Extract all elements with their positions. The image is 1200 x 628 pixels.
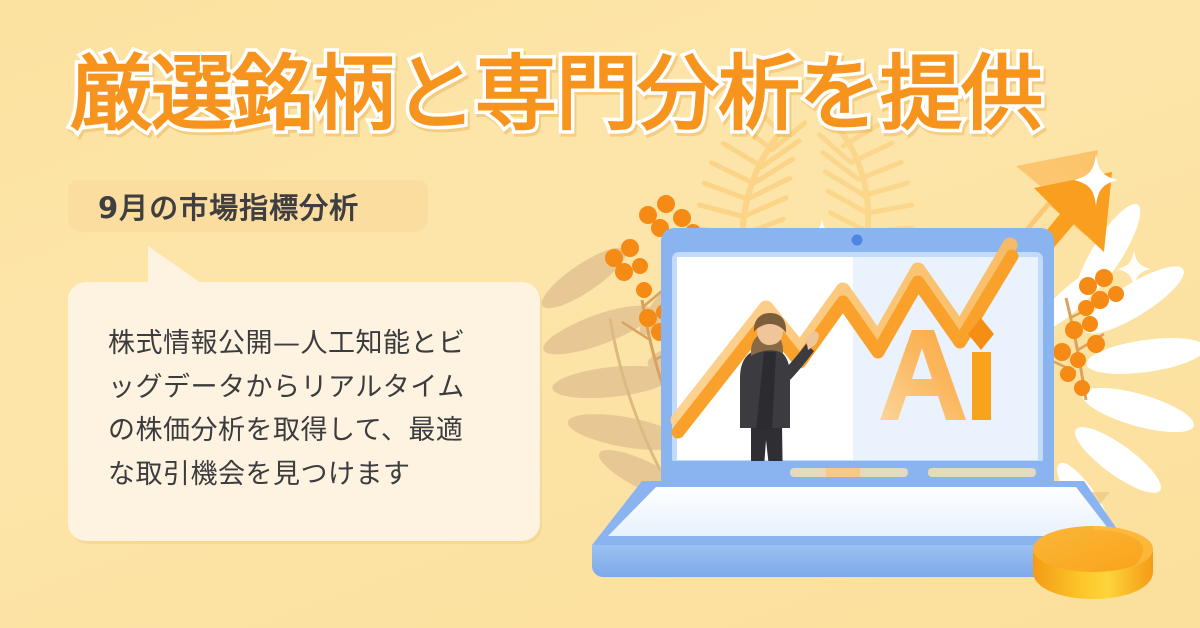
- berry-sprig-right: [1050, 269, 1124, 400]
- description-line: な取引機会を見つけます: [108, 453, 520, 497]
- status-badge: 9月の市場指標分析: [68, 180, 428, 232]
- bubble-tail: [148, 246, 208, 288]
- description-line: 株式情報公開—人工知能とビ: [108, 322, 520, 366]
- headline-text: 厳選銘柄と専門分析を提供: [70, 47, 1042, 142]
- banner-root: 厳選銘柄と専門分析を提供 9月の市場指標分析 株式情報公開—人工知能とビ ッグデ…: [0, 0, 1200, 628]
- badge-label: 9月の市場指標分析: [98, 185, 359, 227]
- description-text: 株式情報公開—人工知能とビ ッグデータからリアルタイム の株価分析を取得して、最…: [108, 322, 520, 497]
- gold-coin-icon: [1033, 526, 1153, 599]
- page-title: 厳選銘柄と専門分析を提供: [70, 52, 1042, 139]
- webcam-dot-icon: [852, 235, 863, 246]
- laptop-illustration: [592, 228, 1128, 577]
- description-line: ッグデータからリアルタイム: [108, 366, 520, 410]
- description-line: の株価分析を取得して、最適: [108, 409, 520, 453]
